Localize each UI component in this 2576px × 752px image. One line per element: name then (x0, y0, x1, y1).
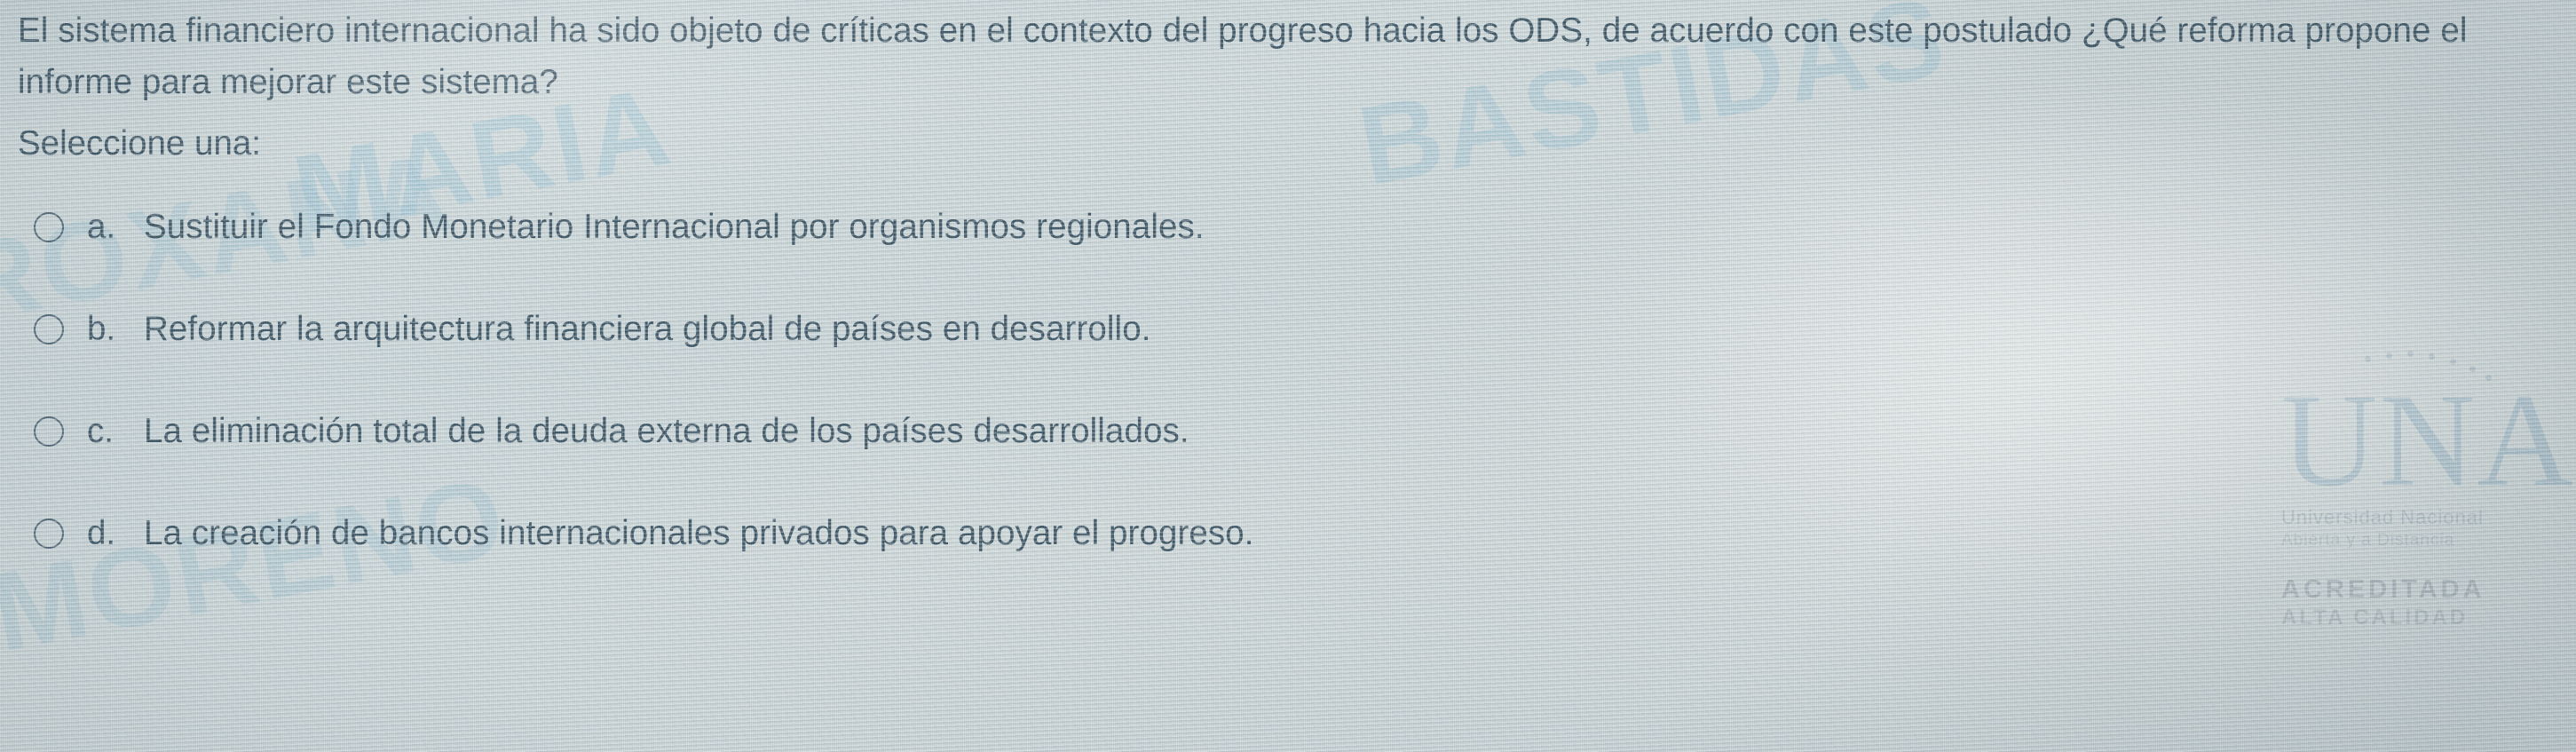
radio-button-b[interactable] (34, 314, 64, 344)
radio-button-a[interactable] (34, 212, 64, 242)
option-text-a[interactable]: Sustituir el Fondo Monetario Internacion… (144, 208, 1205, 247)
option-row-d[interactable]: d. La creación de bancos internacionales… (34, 482, 2430, 584)
option-row-a[interactable]: a. Sustituir el Fondo Monetario Internac… (34, 176, 2430, 278)
quiz-screen: MARIA BASTIDAS ROXANA MORENO UNAD Univer… (0, 0, 2576, 752)
accreditation-label-2: ALTA CALIDAD (2281, 606, 2574, 630)
option-letter-c: c. (87, 412, 144, 451)
option-letter-a: a. (87, 208, 144, 247)
radio-button-d[interactable] (34, 518, 64, 549)
option-text-c[interactable]: La eliminación total de la deuda externa… (144, 412, 1189, 451)
option-letter-d: d. (87, 514, 144, 553)
option-text-d[interactable]: La creación de bancos internacionales pr… (144, 514, 1254, 553)
select-one-label: Seleccione una: (18, 118, 261, 170)
answer-options-list: a. Sustituir el Fondo Monetario Internac… (34, 176, 2430, 584)
option-row-c[interactable]: c. La eliminación total de la deuda exte… (34, 380, 2430, 482)
question-text: El sistema financiero internacional ha s… (18, 5, 2521, 108)
option-letter-b: b. (87, 310, 144, 349)
radio-button-c[interactable] (34, 416, 64, 447)
option-row-b[interactable]: b. Reformar la arquitectura financiera g… (34, 278, 2430, 380)
option-text-b[interactable]: Reformar la arquitectura financiera glob… (144, 310, 1151, 349)
